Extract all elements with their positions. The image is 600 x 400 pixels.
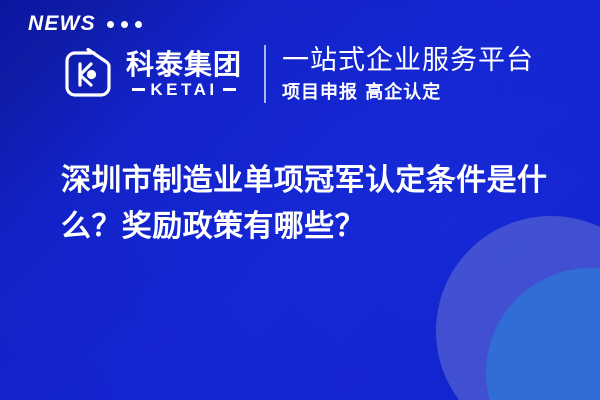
kicker-dot-icon (107, 21, 114, 28)
wordmark-rule-left (132, 88, 145, 91)
slogan-sub: 项目申报 高企认定 (282, 82, 534, 104)
kicker-dot-icon (135, 21, 142, 28)
ketai-wordmark: 科泰集团 KETAI (126, 50, 242, 98)
brand-name-en: KETAI (150, 81, 217, 98)
news-kicker-label: NEWS (28, 13, 96, 34)
kicker-dot-icon (121, 21, 128, 28)
slogan-main: 一站式企业服务平台 (282, 45, 534, 76)
brand-divider (264, 45, 266, 103)
kicker-dots-icon (107, 21, 142, 28)
brand-name-cn: 科泰集团 (126, 50, 242, 79)
ketai-diamond-monogram-icon (58, 44, 118, 104)
decorative-circle-bright (486, 268, 600, 400)
headline: 深圳市制造业单项冠军认定条件是什么？奖励政策有哪些？ (61, 158, 561, 249)
news-kicker: NEWS (28, 13, 142, 34)
brand-row: 科泰集团 KETAI 一站式企业服务平台 项目申报 高企认定 (58, 44, 534, 104)
brand-name-en-row: KETAI (132, 81, 235, 98)
slogan-block: 一站式企业服务平台 项目申报 高企认定 (282, 45, 534, 104)
news-banner: NEWS 科泰集团 KETAI (0, 0, 600, 400)
wordmark-rule-right (223, 88, 236, 91)
